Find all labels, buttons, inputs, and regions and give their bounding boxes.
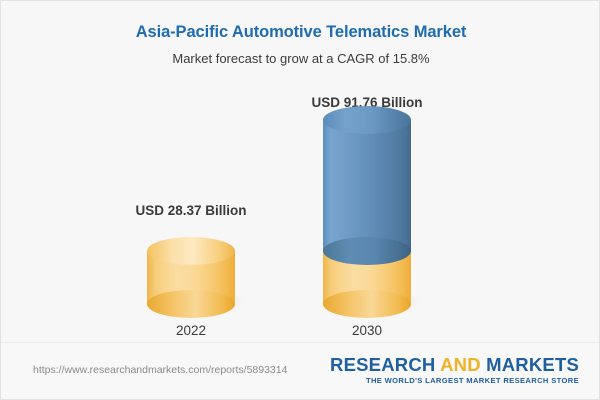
bar-group-2030: USD 91.76 Billion 2030: [292, 86, 442, 341]
chart-footer: https://www.researchandmarkets.com/repor…: [1, 342, 600, 399]
bar-segment-2022-base[interactable]: [147, 251, 235, 304]
cylinder-bottom-cap-icon: [147, 290, 235, 318]
cylinder-top-cap-icon: [147, 237, 235, 265]
year-label-2022: 2022: [116, 323, 266, 338]
brand-word-markets: MARKETS: [486, 354, 579, 375]
brand-logo[interactable]: RESEARCH AND MARKETS THE WORLD'S LARGEST…: [330, 355, 579, 385]
bar-group-2022: USD 28.37 Billion 2022: [116, 86, 266, 341]
brand-name: RESEARCH AND MARKETS: [330, 355, 579, 374]
year-label-2030: 2030: [292, 323, 442, 338]
value-label-2022: USD 28.37 Billion: [116, 203, 266, 218]
brand-word-and: AND: [440, 354, 481, 375]
cylinder-top-cap-icon: [323, 106, 411, 134]
brand-tagline: THE WORLD'S LARGEST MARKET RESEARCH STOR…: [330, 376, 579, 385]
chart-title: Asia-Pacific Automotive Telematics Marke…: [1, 1, 600, 42]
chart-header: Asia-Pacific Automotive Telematics Marke…: [1, 1, 600, 66]
chart-plot-area: USD 28.37 Billion 2022 USD 91.76 Billion…: [1, 86, 600, 341]
bar-segment-2030-growth[interactable]: [323, 120, 411, 251]
cylinder-bottom-cap-icon: [323, 290, 411, 318]
report-url-link[interactable]: https://www.researchandmarkets.com/repor…: [33, 364, 287, 376]
chart-card: Asia-Pacific Automotive Telematics Marke…: [0, 0, 600, 400]
brand-word-research: RESEARCH: [330, 354, 435, 375]
chart-subtitle: Market forecast to grow at a CAGR of 15.…: [1, 42, 600, 66]
cylinder-mid-cap-icon: [323, 237, 411, 265]
